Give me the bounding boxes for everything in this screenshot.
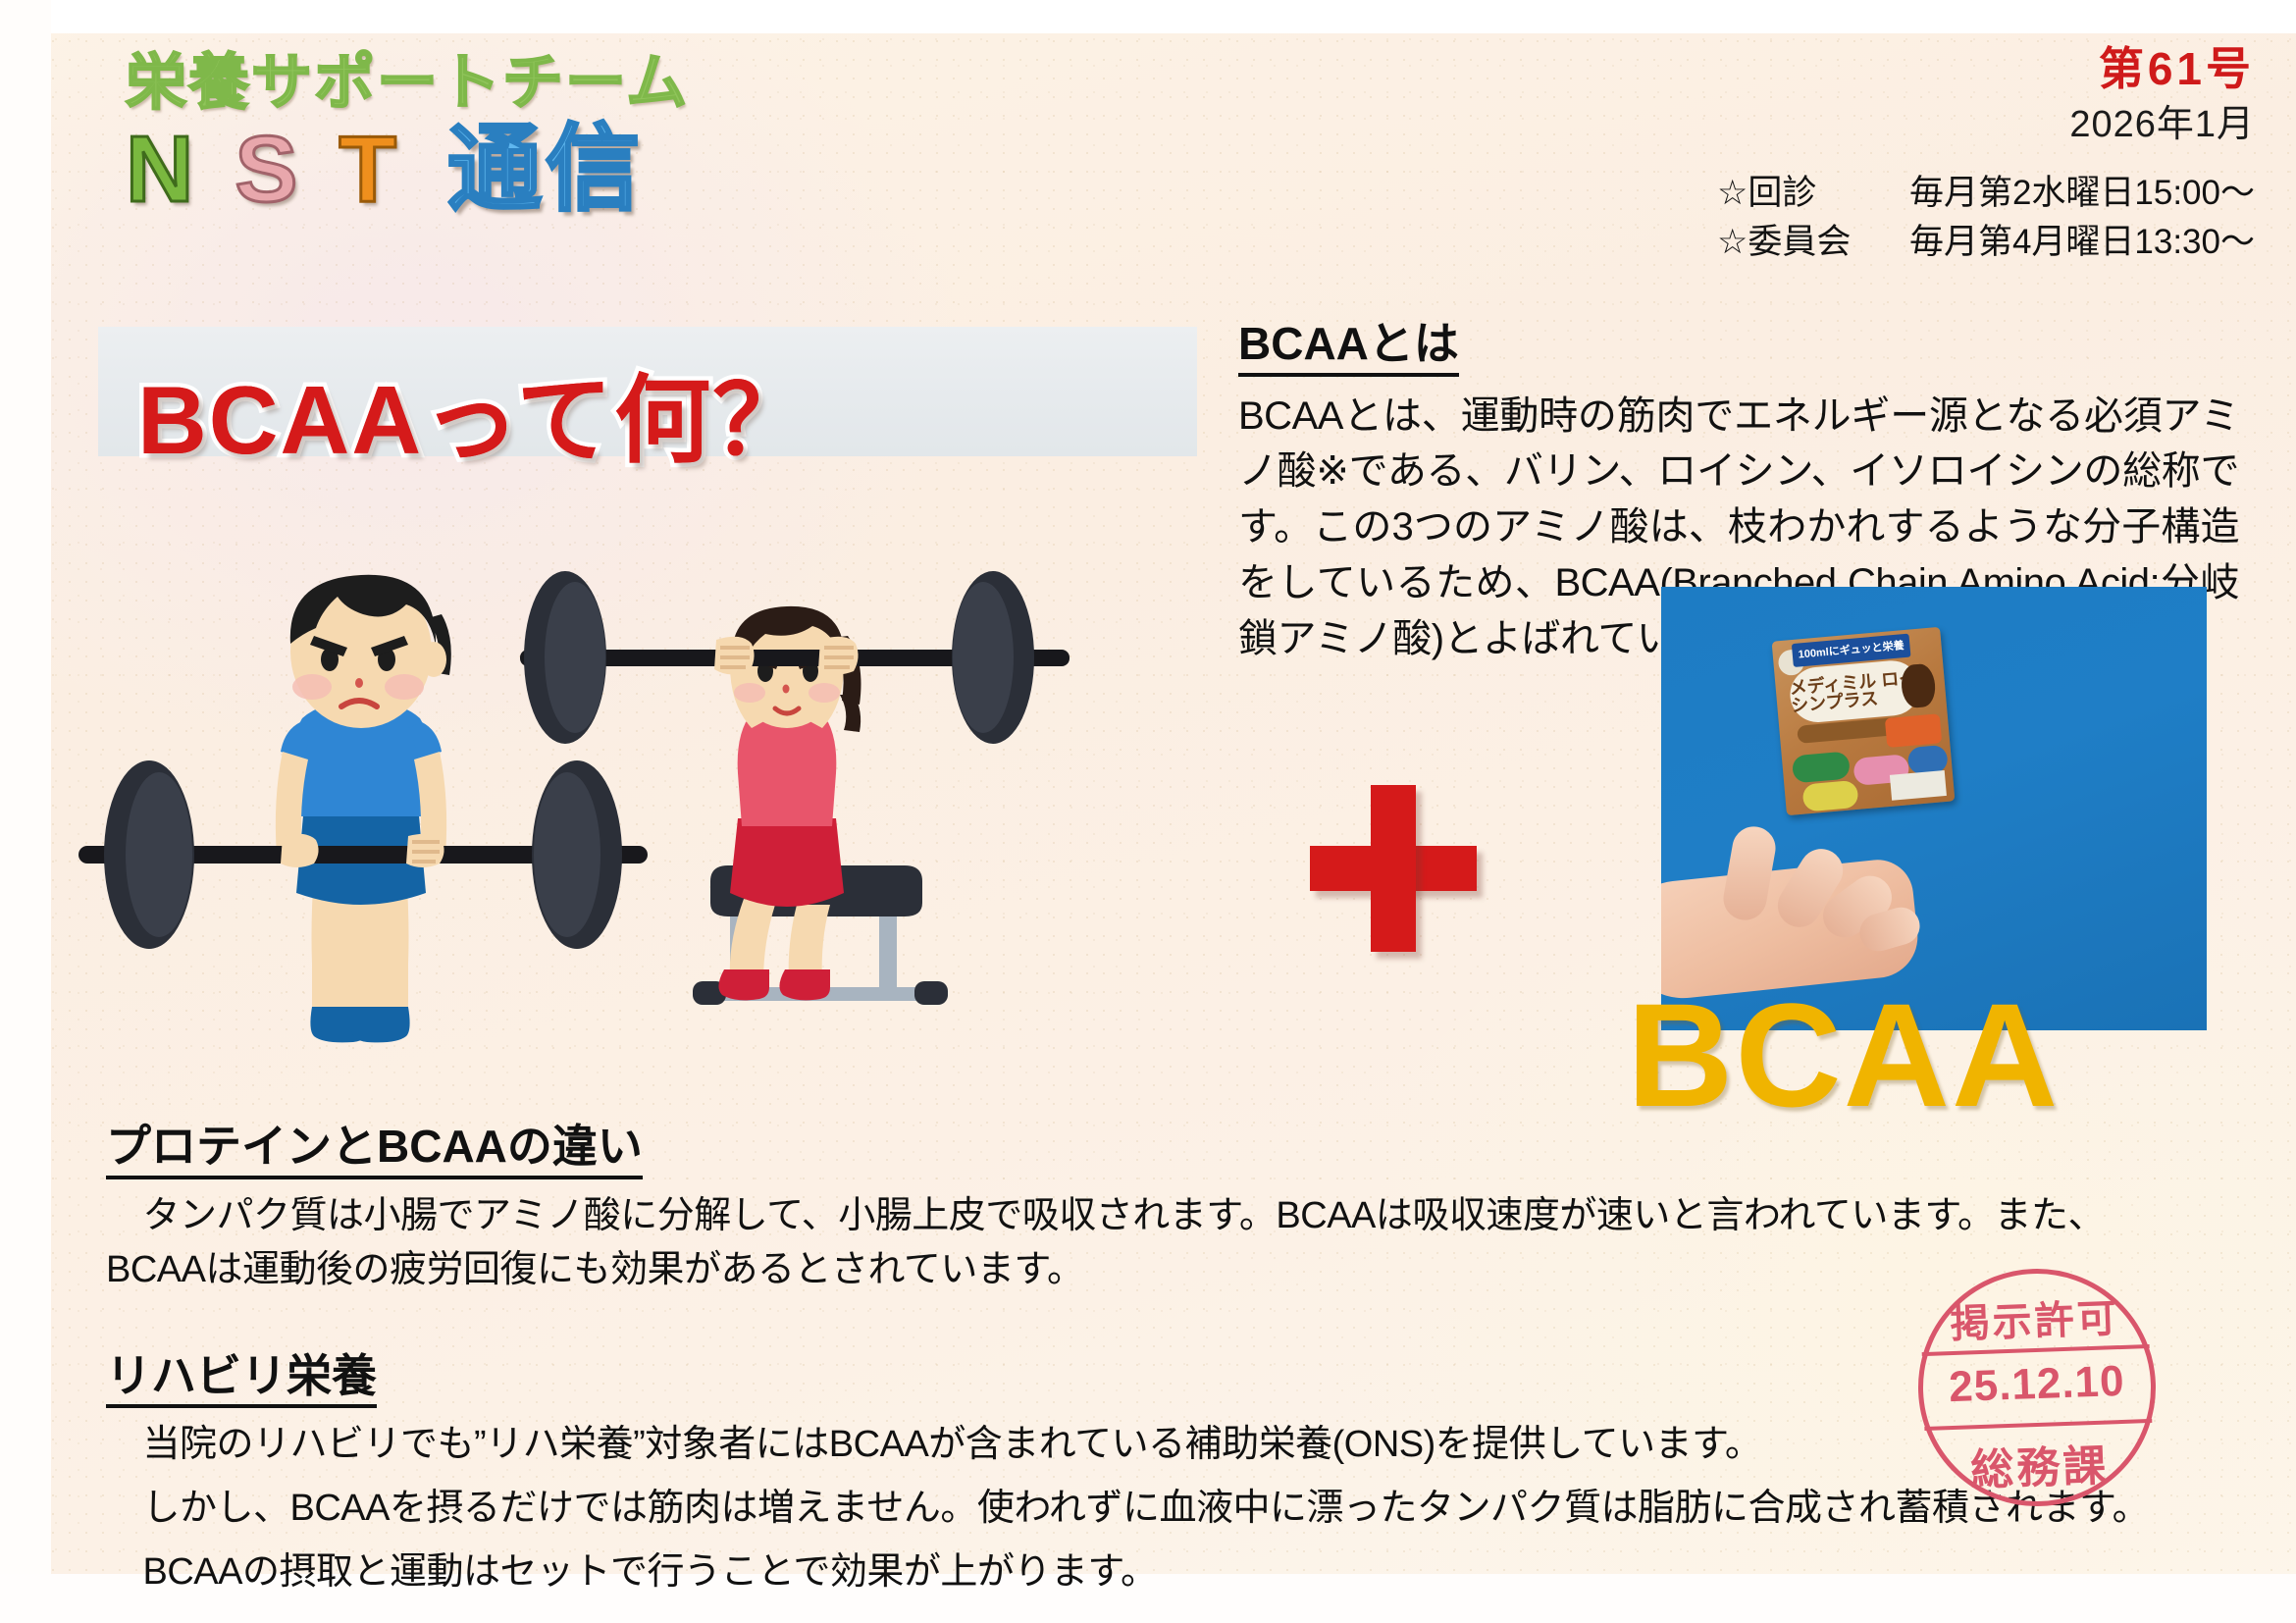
pouch-vitamin-badge	[1801, 780, 1858, 812]
exercise-illustrations	[59, 550, 1315, 1119]
illustration-svg	[59, 550, 1315, 1119]
bcaa-definition-heading: BCAAとは	[1238, 316, 1459, 377]
section-paragraph-protein-vs-bcaa: タンパク質は小腸でアミノ酸に分解して、小腸上皮で吸収されます。BCAAは吸収速度…	[106, 1189, 2186, 1297]
headline-banner: BCAAって何？ BCAAって何？	[98, 327, 1197, 456]
nst-logo-line: NST通信	[126, 123, 969, 217]
issue-number: 第61号	[1717, 43, 2255, 95]
stamp-top-text: 掲示許可	[1920, 1285, 2150, 1350]
medimil-pouch-illustration: 100mlにギュッと栄養 メディミル ロイシンプラス	[1772, 627, 1956, 815]
newsletter-page: 栄養サポートチーム NST通信 第61号 2026年1月 ☆回診毎月第2水曜日1…	[0, 0, 2296, 1623]
schedule-row-committee: ☆委員会毎月第4月曜日13:30～	[1717, 218, 2255, 267]
schedule-list: ☆回診毎月第2水曜日15:00～ ☆委員会毎月第4月曜日13:30～	[1717, 169, 2255, 266]
pouch-product-name: メディミル ロイシンプラス	[1789, 668, 1921, 714]
plus-sign-icon	[1310, 785, 1477, 952]
schedule-value-committee: 毎月第4月曜日13:30～	[1909, 223, 2255, 261]
page-left-margin	[0, 0, 51, 1623]
product-photo: 100mlにギュッと栄養 メディミル ロイシンプラス	[1661, 587, 2207, 1030]
approval-stamp: 掲示許可 25.12.10 総務課	[1914, 1265, 2160, 1510]
pouch-nutrition-label	[1890, 770, 1947, 801]
section-paragraph-rehab-1: 当院のリハビリでも”リハ栄養”対象者にはBCAAが含まれている補助栄養(ONS)…	[106, 1418, 2186, 1472]
section-paragraph-rehab-2: しかし、BCAAを摂るだけでは筋肉は増えません。使われずに血液中に漂ったタンパク…	[106, 1482, 2186, 1536]
section-rehab-nutrition: リハビリ栄養 当院のリハビリでも”リハ栄養”対象者にはBCAAが含まれている補助…	[106, 1348, 2186, 1600]
stamp-date-text: 25.12.10	[1922, 1356, 2152, 1413]
schedule-label-rounds: ☆回診	[1717, 169, 1909, 218]
headline-text: BCAAって何？	[137, 342, 810, 482]
schedule-value-rounds: 毎月第2水曜日15:00～	[1909, 174, 2255, 212]
issue-date: 2026年1月	[1717, 101, 2255, 149]
issue-info: 第61号 2026年1月 ☆回診毎月第2水曜日15:00～ ☆委員会毎月第4月曜…	[1717, 43, 2255, 267]
pouch-protein-badge	[1792, 751, 1851, 783]
section-protein-vs-bcaa: プロテインとBCAAの違い タンパク質は小腸でアミノ酸に分解して、小腸上皮で吸収…	[106, 1119, 2186, 1297]
logo-letter-n: N	[126, 123, 193, 217]
page-top-margin	[0, 0, 2296, 33]
section-heading-rehab-nutrition: リハビリ栄養	[106, 1348, 377, 1409]
section-heading-protein-vs-bcaa: プロテインとBCAAの違い	[106, 1119, 643, 1179]
logo-letter-s: S	[235, 123, 297, 217]
masthead: 栄養サポートチーム NST通信	[126, 51, 969, 217]
photo-overlay-bcaa-text: BCAA	[1627, 981, 2060, 1128]
plus-vertical-bar	[1371, 785, 1416, 952]
pouch-kcal-badge	[1885, 713, 1942, 748]
stamp-bottom-text: 総務課	[1925, 1429, 2155, 1499]
team-name-line: 栄養サポートチーム	[126, 51, 969, 115]
section-paragraph-rehab-3: BCAAの摂取と運動はセットで行うことで効果が上がります。	[106, 1545, 2186, 1599]
logo-letter-t: T	[339, 123, 396, 217]
logo-tsushin: 通信	[447, 123, 644, 217]
open-hand-photo	[1661, 818, 2007, 995]
bottom-articles: プロテインとBCAAの違い タンパク質は小腸でアミノ酸に分解して、小腸上皮で吸収…	[106, 1119, 2186, 1599]
schedule-row-rounds: ☆回診毎月第2水曜日15:00～	[1717, 169, 2255, 218]
schedule-label-committee: ☆委員会	[1717, 218, 1909, 267]
